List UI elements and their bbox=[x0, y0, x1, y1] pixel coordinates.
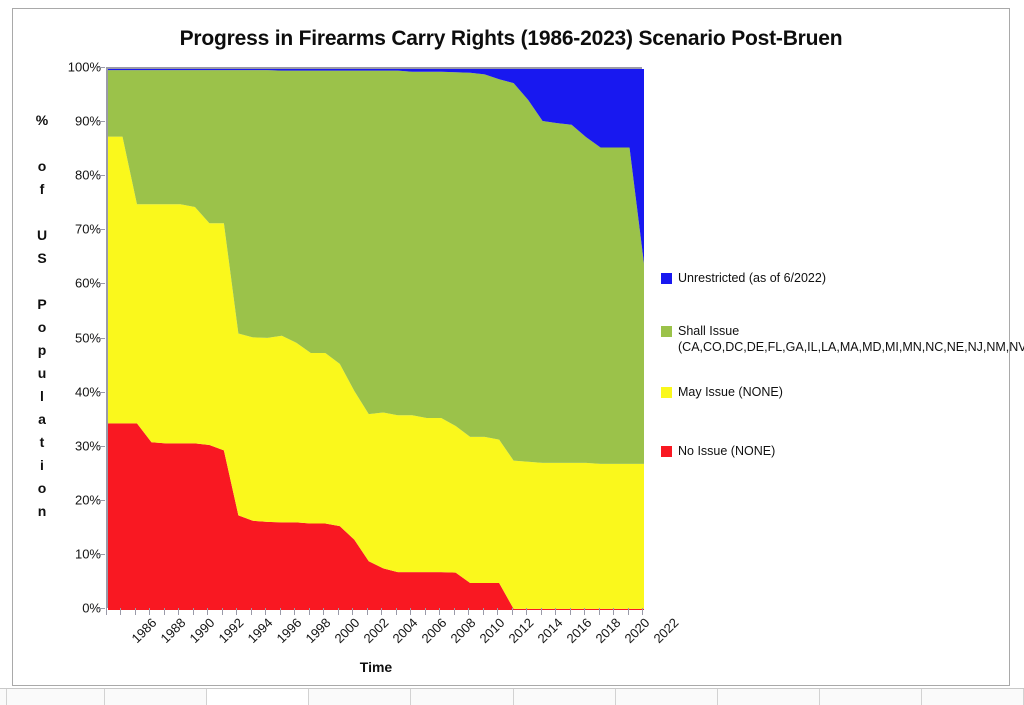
x-tick-label: 2008 bbox=[447, 615, 478, 646]
y-tick-mark bbox=[98, 175, 105, 176]
x-tick-label: 2002 bbox=[360, 615, 391, 646]
y-tick-mark bbox=[98, 446, 105, 447]
legend-label-states: (CA,CO,DC,DE,FL,GA,IL,LA,MA,MD,MI,MN,NC,… bbox=[678, 340, 1024, 356]
legend-item-unrestricted[interactable]: Unrestricted (as of 6/2022) bbox=[661, 271, 826, 287]
x-tick-label: 2010 bbox=[476, 615, 507, 646]
spreadsheet-cell[interactable] bbox=[922, 689, 1024, 705]
legend-swatch-no-issue bbox=[661, 446, 672, 457]
plot-area-wrapper bbox=[106, 67, 642, 608]
x-tick-mark bbox=[512, 608, 513, 615]
x-tick-label: 2014 bbox=[534, 615, 565, 646]
x-tick-label: 1990 bbox=[186, 615, 217, 646]
spreadsheet-cell[interactable] bbox=[309, 689, 411, 705]
x-tick-mark bbox=[599, 608, 600, 615]
x-tick-mark bbox=[251, 608, 252, 615]
x-tick-mark bbox=[410, 608, 411, 615]
x-tick-label: 2012 bbox=[505, 615, 536, 646]
x-tick-mark bbox=[439, 608, 440, 615]
y-tick-mark bbox=[98, 554, 105, 555]
x-tick-label: 1988 bbox=[157, 615, 188, 646]
spreadsheet-cell[interactable] bbox=[105, 689, 207, 705]
spreadsheet-cell[interactable] bbox=[207, 689, 309, 705]
y-tick-mark bbox=[98, 67, 105, 68]
spreadsheet-column-strip[interactable] bbox=[0, 688, 1024, 705]
y-tick-mark bbox=[98, 121, 105, 122]
x-tick-mark bbox=[149, 608, 150, 615]
x-tick-mark bbox=[280, 608, 281, 615]
x-tick-mark bbox=[628, 608, 629, 615]
x-tick-mark bbox=[570, 608, 571, 615]
x-tick-mark bbox=[555, 608, 556, 615]
y-tick-mark bbox=[98, 229, 105, 230]
x-tick-mark bbox=[468, 608, 469, 615]
y-tick-mark bbox=[98, 392, 105, 393]
spreadsheet-cell[interactable] bbox=[514, 689, 616, 705]
x-tick-mark bbox=[207, 608, 208, 615]
x-tick-label: 2022 bbox=[650, 615, 681, 646]
x-tick-mark bbox=[425, 608, 426, 615]
spreadsheet-cell[interactable] bbox=[820, 689, 922, 705]
x-tick-label: 2000 bbox=[331, 615, 362, 646]
x-tick-mark bbox=[164, 608, 165, 615]
x-tick-mark bbox=[454, 608, 455, 615]
x-tick-mark bbox=[106, 608, 107, 615]
x-axis-title: Time bbox=[106, 659, 646, 675]
x-tick-mark bbox=[309, 608, 310, 615]
x-tick-mark bbox=[613, 608, 614, 615]
legend-label-main: Shall Issue bbox=[678, 324, 1024, 340]
chart-title: Progress in Firearms Carry Rights (1986-… bbox=[13, 27, 1009, 51]
x-tick-mark bbox=[642, 608, 643, 615]
legend-label-main: No Issue (NONE) bbox=[678, 444, 775, 460]
legend-item-may-issue[interactable]: May Issue (NONE) bbox=[661, 385, 783, 401]
legend-label-shall-issue: Shall Issue(CA,CO,DC,DE,FL,GA,IL,LA,MA,M… bbox=[678, 324, 1024, 355]
x-tick-mark bbox=[483, 608, 484, 615]
x-tick-label: 1986 bbox=[128, 615, 159, 646]
x-tick-mark bbox=[294, 608, 295, 615]
legend-item-no-issue[interactable]: No Issue (NONE) bbox=[661, 444, 775, 460]
x-tick-label: 2020 bbox=[621, 615, 652, 646]
legend-label-no-issue: No Issue (NONE) bbox=[678, 444, 775, 460]
y-tick-mark bbox=[98, 338, 105, 339]
x-tick-mark bbox=[396, 608, 397, 615]
x-tick-label: 2004 bbox=[389, 615, 420, 646]
x-tick-mark bbox=[367, 608, 368, 615]
legend-label-may-issue: May Issue (NONE) bbox=[678, 385, 783, 401]
y-tick-mark bbox=[98, 608, 105, 609]
legend-label-main: Unrestricted (as of 6/2022) bbox=[678, 271, 826, 287]
legend-swatch-unrestricted bbox=[661, 273, 672, 284]
spreadsheet-cell[interactable] bbox=[616, 689, 718, 705]
x-tick-mark bbox=[178, 608, 179, 615]
x-tick-label: 2016 bbox=[563, 615, 594, 646]
x-tick-mark bbox=[541, 608, 542, 615]
y-tick-label: 100% bbox=[68, 60, 101, 75]
x-tick-mark bbox=[338, 608, 339, 615]
x-tick-mark bbox=[193, 608, 194, 615]
y-tick-mark bbox=[98, 283, 105, 284]
legend-item-shall-issue[interactable]: Shall Issue(CA,CO,DC,DE,FL,GA,IL,LA,MA,M… bbox=[661, 324, 1024, 355]
chart-object-frame[interactable]: Progress in Firearms Carry Rights (1986-… bbox=[12, 8, 1010, 686]
x-tick-mark bbox=[497, 608, 498, 615]
x-tick-mark bbox=[120, 608, 121, 615]
x-tick-label: 2006 bbox=[418, 615, 449, 646]
legend-swatch-shall-issue bbox=[661, 326, 672, 337]
legend-label-main: May Issue (NONE) bbox=[678, 385, 783, 401]
x-tick-mark bbox=[526, 608, 527, 615]
spreadsheet-app: Progress in Firearms Carry Rights (1986-… bbox=[0, 0, 1024, 705]
x-tick-mark bbox=[265, 608, 266, 615]
stacked-area-chart bbox=[108, 69, 644, 610]
y-axis-tick-labels: 100%90%80%70%60%50%40%30%20%10%0% bbox=[43, 67, 101, 608]
y-tick-mark bbox=[98, 500, 105, 501]
legend-swatch-may-issue bbox=[661, 387, 672, 398]
x-tick-mark bbox=[135, 608, 136, 615]
spreadsheet-cell[interactable] bbox=[0, 689, 7, 705]
legend-label-unrestricted: Unrestricted (as of 6/2022) bbox=[678, 271, 826, 287]
x-tick-mark bbox=[323, 608, 324, 615]
x-tick-label: 2018 bbox=[592, 615, 623, 646]
spreadsheet-cell[interactable] bbox=[411, 689, 513, 705]
spreadsheet-cell[interactable] bbox=[7, 689, 106, 705]
x-tick-label: 1992 bbox=[215, 615, 246, 646]
x-tick-mark bbox=[222, 608, 223, 615]
x-tick-label: 1996 bbox=[273, 615, 304, 646]
plot-area[interactable] bbox=[106, 67, 642, 608]
x-tick-mark bbox=[236, 608, 237, 615]
x-tick-mark bbox=[584, 608, 585, 615]
x-tick-mark bbox=[352, 608, 353, 615]
x-tick-mark bbox=[381, 608, 382, 615]
x-tick-label: 1994 bbox=[244, 615, 275, 646]
x-tick-label: 1998 bbox=[302, 615, 333, 646]
spreadsheet-cell[interactable] bbox=[718, 689, 820, 705]
